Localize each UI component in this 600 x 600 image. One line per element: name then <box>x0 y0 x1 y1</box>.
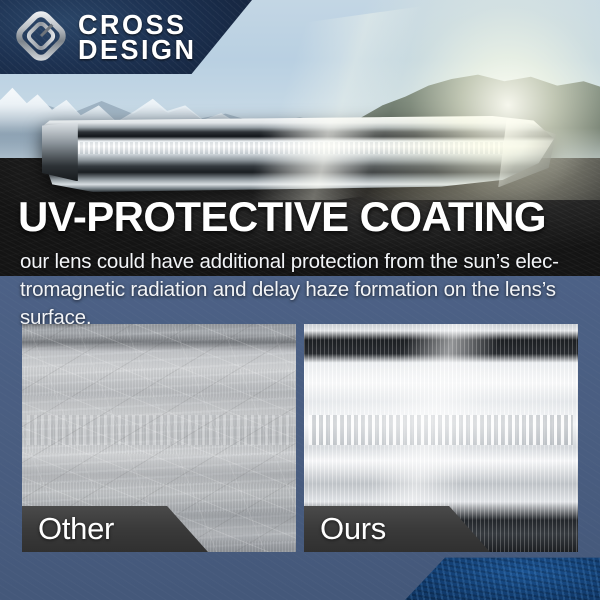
cross-design-diamond-logo-icon <box>14 9 68 63</box>
lens-end-cap <box>42 122 78 181</box>
comparison-panel-ours: Ours <box>304 324 578 552</box>
body-copy: our lens could have additional protectio… <box>20 248 582 332</box>
product-lens-image <box>42 116 554 192</box>
label-other: Other <box>22 511 114 547</box>
comparison-panels: Other Ours <box>22 324 578 552</box>
brand-name-line2: DESIGN <box>78 37 197 63</box>
lens-sheen <box>42 116 554 192</box>
product-feature-ad: CROSS DESIGN UV-PROTECTIVE COATING our l… <box>0 0 600 600</box>
brand-wordmark: CROSS DESIGN <box>78 10 197 62</box>
brand-logo[interactable]: CROSS DESIGN <box>14 9 197 63</box>
label-ours: Ours <box>304 511 386 547</box>
headline: UV-PROTECTIVE COATING <box>18 196 588 238</box>
comparison-panel-other: Other <box>22 324 296 552</box>
